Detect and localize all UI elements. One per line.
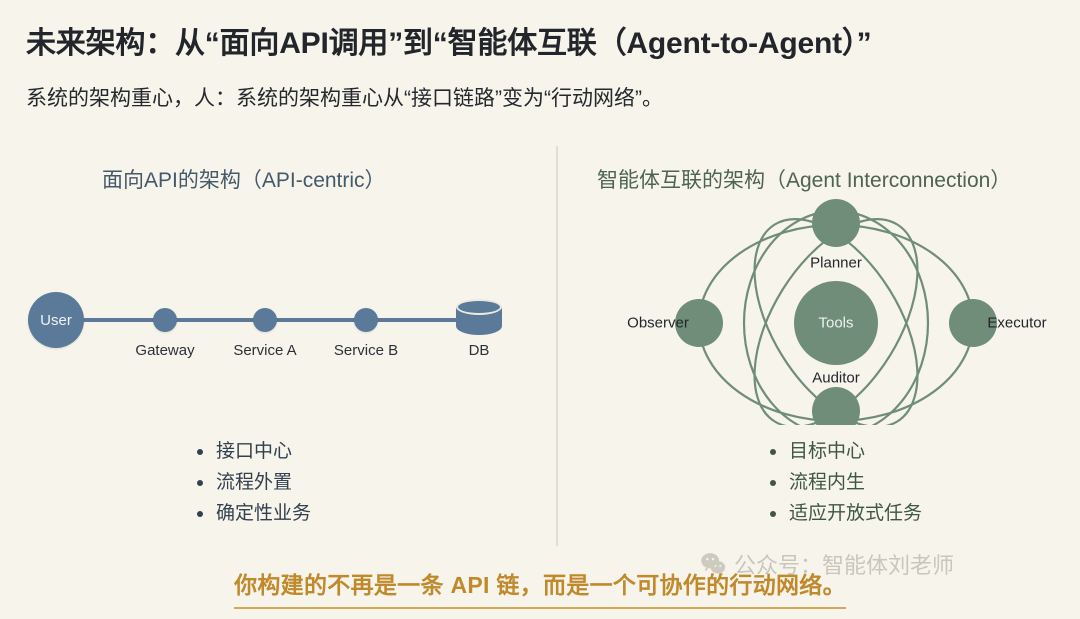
right-bullet-list: 目标中心 流程内生 适应开放式任务 xyxy=(768,436,922,529)
node-planner-label: Planner xyxy=(810,255,862,272)
node-user: User xyxy=(28,292,84,348)
footer-text: 你构建的不再是一条 API 链，而是一个可协作的行动网络。 xyxy=(234,566,846,609)
left-bullet-list: 接口中心 流程外置 确定性业务 xyxy=(195,436,311,529)
api-centric-diagram: User Gateway Service A Service B DB xyxy=(0,270,556,380)
list-item: 适应开放式任务 xyxy=(768,498,922,529)
node-service-b-label: Service B xyxy=(334,342,398,359)
node-planner xyxy=(812,199,860,247)
db-cylinder-top xyxy=(456,299,502,315)
footer: 你构建的不再是一条 API 链，而是一个可协作的行动网络。 xyxy=(0,566,1080,609)
node-db-label: DB xyxy=(469,342,490,359)
node-service-b xyxy=(354,308,378,332)
left-panel-heading: 面向API的架构（API-centric） xyxy=(102,164,386,194)
node-tools-label: Tools xyxy=(818,315,853,332)
agent-interconnection-diagram: Tools Planner Observer Executor Auditor xyxy=(600,195,1070,425)
list-item: 流程外置 xyxy=(195,467,311,498)
page-title: 未来架构：从“面向API调用”到“智能体互联（Agent-to-Agent）” xyxy=(26,18,1066,62)
node-observer-label: Observer xyxy=(627,315,689,332)
node-executor-label: Executor xyxy=(987,315,1046,332)
slide-canvas: 未来架构：从“面向API调用”到“智能体互联（Agent-to-Agent）” … xyxy=(0,0,1080,619)
node-user-label: User xyxy=(40,312,72,329)
node-service-a-label: Service A xyxy=(233,342,296,359)
network-graph-svg xyxy=(600,195,1070,425)
node-gateway xyxy=(153,308,177,332)
node-service-a xyxy=(253,308,277,332)
list-item: 接口中心 xyxy=(195,436,311,467)
node-auditor-label: Auditor xyxy=(812,370,860,387)
right-panel-heading: 智能体互联的架构（Agent Interconnection） xyxy=(597,164,1011,194)
page-subtitle: 系统的架构重心，人：系统的架构重心从“接口链路”变为“行动网络”。 xyxy=(26,82,1066,112)
list-item: 确定性业务 xyxy=(195,498,311,529)
node-db xyxy=(456,299,502,341)
node-auditor xyxy=(812,387,860,425)
column-divider xyxy=(556,146,558,546)
node-gateway-label: Gateway xyxy=(135,342,194,359)
list-item: 流程内生 xyxy=(768,467,922,498)
list-item: 目标中心 xyxy=(768,436,922,467)
